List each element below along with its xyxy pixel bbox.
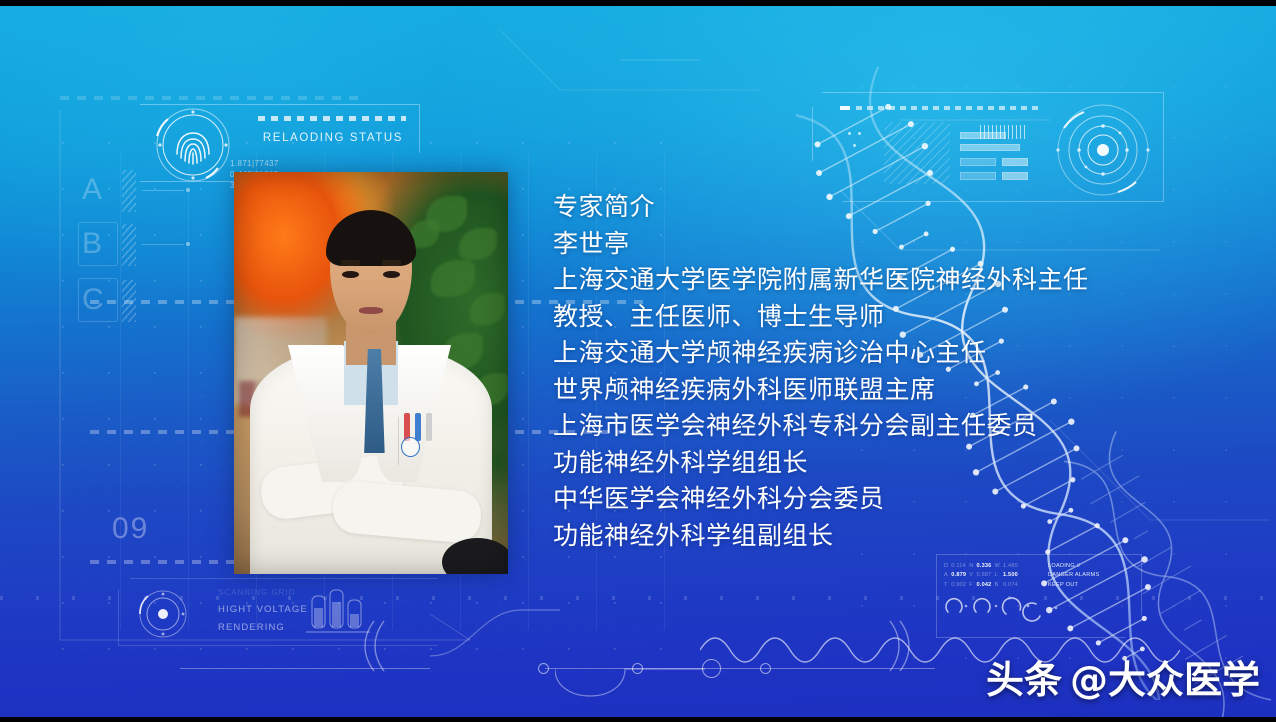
profile-line-3: 上海交通大学医学院附属新华医院神经外科主任	[553, 262, 1173, 299]
voltage-rendering-panel: SCANNING GRID HIGHT VOLTAGE RENDERING	[118, 578, 438, 646]
reloading-status-panel: RELAODING STATUS 1.871|77437 0.4	[140, 104, 420, 182]
data-cell-k3: L	[995, 571, 1003, 580]
top-right-bar-3	[960, 158, 996, 166]
data-cell-v2: 0.336	[977, 562, 995, 571]
data-readout-row: T0.902F0.042B0.074	[944, 581, 1021, 590]
voltage-line-2: RENDERING	[218, 622, 285, 633]
reloading-tick-bar	[258, 116, 406, 121]
watermark-handle: @大众医学	[1070, 649, 1260, 704]
data-cell-v2: 0.687	[977, 571, 995, 580]
channel-watermark: 头条 @大众医学	[986, 649, 1260, 704]
top-right-dot-3	[853, 144, 856, 147]
top-right-comb-ticks	[980, 125, 1028, 139]
left-marker-c-label: C	[82, 280, 116, 320]
profile-line-4: 教授、主任医师、博士生导师	[553, 299, 1173, 336]
top-right-hatch-block	[884, 122, 950, 184]
top-right-dash-bar	[856, 106, 1042, 110]
left-marker-c-hatch	[122, 280, 136, 322]
left-marker-a-tick	[142, 190, 184, 191]
bottom-dash-line	[0, 596, 1276, 600]
top-right-hud-panel	[812, 92, 1164, 202]
bar-chart-icon	[302, 586, 382, 638]
top-right-dot-2	[858, 132, 861, 135]
data-cell-k2: N	[969, 562, 976, 571]
data-cell-v3: 0.074	[1003, 581, 1021, 590]
data-cell-k1: A	[944, 571, 951, 580]
left-marker-a-label: A	[82, 170, 116, 210]
left-marker-a-dot	[186, 188, 190, 192]
reloading-value-1: 1.871|77437	[230, 158, 279, 169]
slide-canvas: A B C 09 RELAODING STATUS	[0, 0, 1276, 722]
top-right-bar-6	[1002, 172, 1028, 180]
left-marker-b-tick	[142, 244, 184, 245]
top-right-dot-1	[848, 132, 851, 135]
data-cell-v1: 0.879	[951, 571, 969, 580]
data-cell-k3: B	[995, 581, 1003, 590]
rail-node-3	[702, 659, 721, 678]
left-marker-b-label: B	[82, 224, 116, 264]
profile-line-9: 中华医学会神经外科分会委员	[553, 481, 1173, 518]
data-cell-k2: V	[969, 571, 976, 580]
fingerprint-icon	[148, 106, 238, 184]
top-right-bar-5	[1002, 158, 1028, 166]
left-marker-b-hatch	[122, 224, 136, 266]
slide-number: 09	[112, 512, 149, 546]
top-right-lead-marker	[840, 106, 850, 110]
profile-line-2: 李世亭	[553, 226, 1173, 263]
profile-line-10: 功能神经外科学组副组长	[553, 518, 1173, 555]
loop-connector-graphic	[555, 645, 705, 715]
data-cell-v3: 1.500	[1003, 571, 1021, 580]
left-marker-b-dot	[186, 242, 190, 246]
data-cell-k2: F	[969, 581, 976, 590]
data-cell-k1: D	[944, 562, 951, 571]
photo-vignette	[234, 172, 508, 574]
profile-line-8: 功能神经外科学组组长	[553, 445, 1173, 482]
letterbox-top	[0, 0, 1276, 6]
bottom-rail-right	[545, 668, 935, 669]
data-readout-row: D0.114N0.336W1.480	[944, 562, 1021, 571]
data-cell-k1: T	[944, 581, 951, 590]
data-cell-v2: 0.042	[977, 581, 995, 590]
left-marker-a-hatch	[122, 170, 136, 212]
data-cell-k3: W	[995, 562, 1003, 571]
expert-profile-text: 专家简介李世亭上海交通大学医学院附属新华医院神经外科主任教授、主任医师、博士生导…	[553, 189, 1173, 554]
data-cell-v1: 0.114	[951, 562, 969, 571]
data-cell-v1: 0.902	[951, 581, 969, 590]
rail-node-1	[538, 663, 549, 674]
rail-node-2	[632, 663, 643, 674]
data-readout-table: D0.114N0.336W1.480A0.879V0.687L1.500T0.9…	[944, 562, 1021, 590]
rail-node-4	[760, 663, 771, 674]
arc-connector-graphic	[430, 600, 560, 660]
profile-line-1: 专家简介	[553, 189, 1173, 226]
expert-portrait-photo	[234, 172, 508, 574]
letterbox-bottom	[0, 717, 1276, 722]
profile-line-5: 上海交通大学颅神经疾病诊治中心主任	[553, 335, 1173, 372]
reloading-status-title: RELAODING STATUS	[248, 132, 418, 144]
dash-row-4	[60, 96, 360, 100]
profile-line-6: 世界颅神经疾病外科医师联盟主席	[553, 372, 1173, 409]
bottom-rail-left	[180, 668, 430, 669]
data-readout-row: A0.879V0.687L1.500	[944, 571, 1021, 580]
top-right-bar-4	[960, 172, 996, 180]
profile-line-7: 上海市医学会神经外科专科分会副主任委员	[553, 408, 1173, 445]
voltage-line-1: HIGHT VOLTAGE	[218, 604, 308, 615]
watermark-brand: 头条	[986, 649, 1062, 704]
top-right-bar-2	[960, 144, 1020, 151]
data-cell-v3: 1.480	[1003, 562, 1021, 571]
